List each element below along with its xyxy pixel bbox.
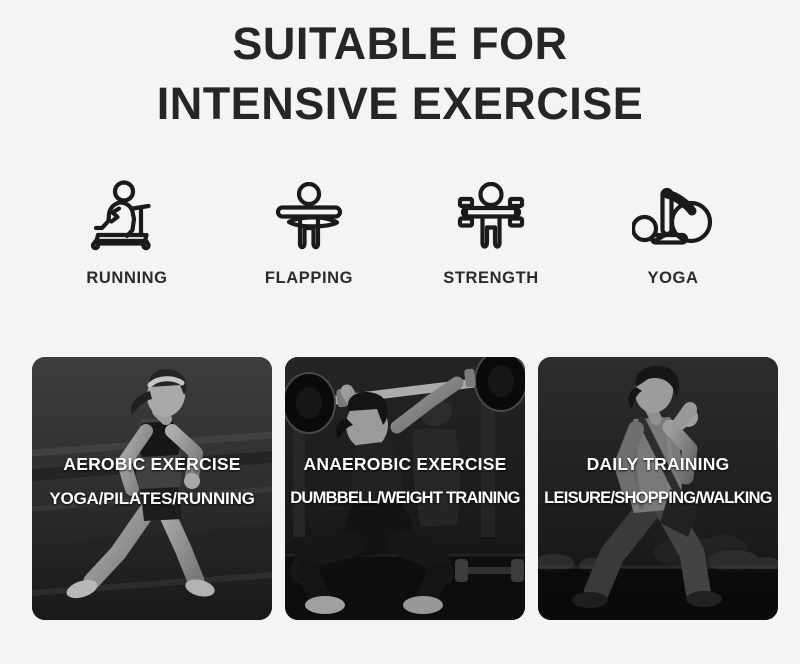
page-title: SUITABLE FOR INTENSIVE EXERCISE xyxy=(0,0,800,134)
exercise-card-daily[interactable]: DAILY TRAINING LEISURE/SHOPPING/WALKING xyxy=(538,357,778,620)
exercise-card-row: AEROBIC EXERCISE YOGA/PILATES/RUNNING xyxy=(32,357,777,620)
activity-label-strength: STRENGTH xyxy=(443,269,539,288)
activity-item-strength: STRENGTH xyxy=(431,176,551,288)
title-line-2: INTENSIVE EXERCISE xyxy=(0,74,800,134)
yoga-ball-stretch-icon xyxy=(632,176,714,252)
exercise-card-aerobic[interactable]: AEROBIC EXERCISE YOGA/PILATES/RUNNING xyxy=(32,357,272,620)
exercise-card-title: DAILY TRAINING xyxy=(538,453,778,475)
activity-item-flapping: FLAPPING xyxy=(249,176,369,288)
promo-banner: SUITABLE FOR INTENSIVE EXERCISE xyxy=(0,0,800,664)
exercise-card-caption: DAILY TRAINING LEISURE/SHOPPING/WALKING xyxy=(538,453,778,509)
exercise-card-anaerobic[interactable]: ANAEROBIC EXERCISE DUMBBELL/WEIGHT TRAIN… xyxy=(285,357,525,620)
activity-icon-row: RUNNING FLAPPING xyxy=(0,176,800,288)
exercise-card-title: ANAEROBIC EXERCISE xyxy=(285,453,525,475)
activity-item-yoga: YOGA xyxy=(613,176,733,288)
arm-flapping-figure-icon xyxy=(269,176,349,252)
title-line-1: SUITABLE FOR xyxy=(0,14,800,74)
exercise-card-caption: AEROBIC EXERCISE YOGA/PILATES/RUNNING xyxy=(32,453,272,509)
exercise-card-subtitle: DUMBBELL/WEIGHT TRAINING xyxy=(285,488,525,509)
exercise-card-subtitle: YOGA/PILATES/RUNNING xyxy=(32,488,272,509)
activity-label-flapping: FLAPPING xyxy=(265,269,353,288)
activity-label-running: RUNNING xyxy=(86,269,167,288)
activity-item-running: RUNNING xyxy=(67,176,187,288)
exercise-card-caption: ANAEROBIC EXERCISE DUMBBELL/WEIGHT TRAIN… xyxy=(285,453,525,509)
exercise-card-subtitle: LEISURE/SHOPPING/WALKING xyxy=(538,488,778,509)
activity-label-yoga: YOGA xyxy=(648,269,699,288)
dumbbell-strength-figure-icon xyxy=(452,176,530,252)
exercise-card-title: AEROBIC EXERCISE xyxy=(32,453,272,475)
treadmill-running-icon xyxy=(90,176,164,252)
